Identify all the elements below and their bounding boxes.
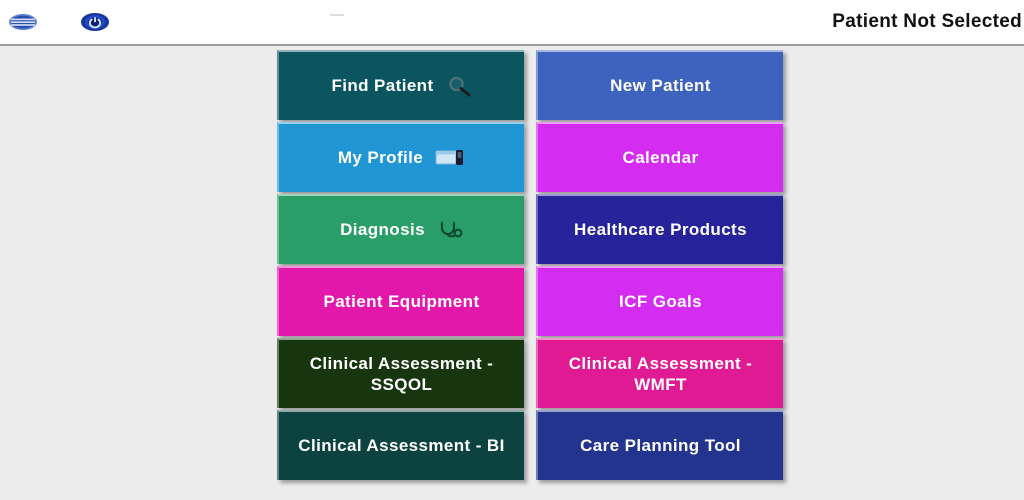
tile-label: My Profile [338, 147, 423, 168]
tile-clinical-assessment-wmft[interactable]: Clinical Assessment - WMFT [536, 338, 783, 408]
tile-label: Clinical Assessment - SSQOL [285, 353, 518, 396]
app-header: Patient Not Selected [0, 0, 1024, 46]
tile-patient-equipment[interactable]: Patient Equipment [277, 266, 524, 336]
id-card-icon [435, 147, 465, 169]
tile-label-wrap: My Profile [338, 147, 465, 169]
tile-calendar[interactable]: Calendar [536, 122, 783, 192]
header-artifact [330, 14, 344, 16]
tile-label-wrap: New Patient [610, 75, 711, 96]
tile-label-wrap: Clinical Assessment - WMFT [544, 353, 777, 396]
tile-label: Calendar [623, 147, 699, 168]
tile-clinical-assessment-ssqol[interactable]: Clinical Assessment - SSQOL [277, 338, 524, 408]
tile-label: Find Patient [331, 75, 433, 96]
tile-label: New Patient [610, 75, 711, 96]
stethoscope-icon [437, 219, 463, 241]
tile-label: ICF Goals [619, 291, 702, 312]
tile-label: Clinical Assessment - WMFT [544, 353, 777, 396]
menu-ellipse-icon[interactable] [8, 10, 38, 34]
tile-label: Clinical Assessment - BI [298, 435, 504, 456]
tile-diagnosis[interactable]: Diagnosis [277, 194, 524, 264]
tile-icf-goals[interactable]: ICF Goals [536, 266, 783, 336]
tile-label: Care Planning Tool [580, 435, 741, 456]
tile-label-wrap: Diagnosis [340, 219, 463, 241]
tile-label-wrap: ICF Goals [619, 291, 702, 312]
tile-label-wrap: Care Planning Tool [580, 435, 741, 456]
tile-my-profile[interactable]: My Profile [277, 122, 524, 192]
tile-label-wrap: Calendar [623, 147, 699, 168]
tile-clinical-assessment-bi[interactable]: Clinical Assessment - BI [277, 410, 524, 480]
tile-care-planning-tool[interactable]: Care Planning Tool [536, 410, 783, 480]
tile-label: Patient Equipment [323, 291, 479, 312]
tile-healthcare-products[interactable]: Healthcare Products [536, 194, 783, 264]
page-body: Find PatientNew PatientMy ProfileCalenda… [0, 46, 1024, 500]
tile-find-patient[interactable]: Find Patient [277, 50, 524, 120]
patient-status-label: Patient Not Selected [832, 11, 1022, 33]
power-ellipse-icon[interactable] [80, 10, 110, 34]
tile-label-wrap: Clinical Assessment - SSQOL [285, 353, 518, 396]
tile-new-patient[interactable]: New Patient [536, 50, 783, 120]
tile-label-wrap: Find Patient [331, 75, 471, 97]
magnifier-icon [446, 75, 472, 97]
tile-label-wrap: Patient Equipment [323, 291, 479, 312]
header-icon-group [0, 10, 110, 34]
tile-label: Healthcare Products [574, 219, 747, 240]
tile-label-wrap: Healthcare Products [574, 219, 747, 240]
tile-grid: Find PatientNew PatientMy ProfileCalenda… [277, 50, 783, 480]
tile-label: Diagnosis [340, 219, 425, 240]
tile-label-wrap: Clinical Assessment - BI [298, 435, 504, 456]
